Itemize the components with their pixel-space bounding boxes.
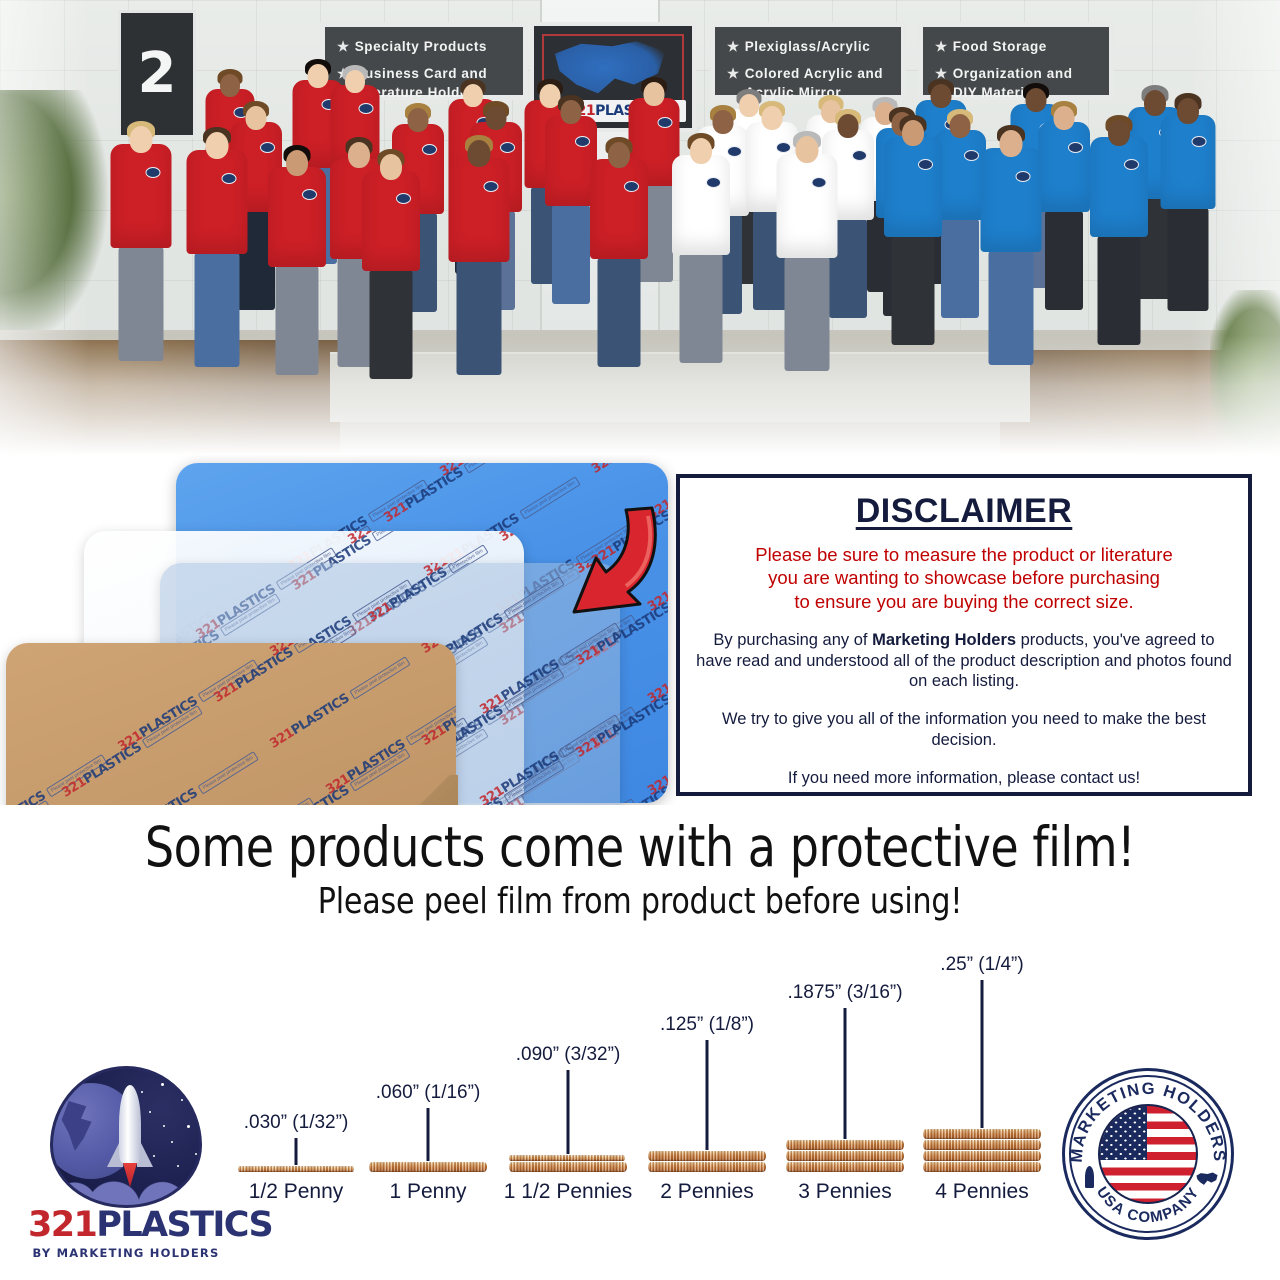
employee [884,118,942,349]
shirt [1090,137,1148,237]
face [999,130,1022,157]
penny-stack [509,1154,627,1172]
face [205,132,228,159]
face [286,150,308,176]
rocket-globe-emblem [50,1066,202,1208]
penny-coin [648,1162,766,1172]
legs [118,247,163,361]
employee [590,140,648,371]
thickness-label: .125” (1/8”) [660,1014,754,1036]
shirt-logo-icon [1124,159,1139,170]
palm-plant-left [0,90,110,350]
shirt [362,171,420,271]
legs [552,205,590,304]
leader-line [706,1040,709,1150]
star-icon [181,1099,183,1101]
penny-count-label: 3 Pennies [798,1180,891,1204]
logo-321-plastics: 321PLASTICS BY MARKETING HOLDERS [28,1066,224,1256]
legs [941,219,979,318]
penny-coin [786,1162,904,1172]
face [643,82,664,106]
face [838,114,859,138]
legs [1045,211,1083,310]
thickness-label: .030” (1/32”) [244,1112,349,1134]
penny-coin [923,1140,1041,1150]
face [1054,106,1075,130]
penny-coin [786,1151,904,1161]
headline-secondary: Please peel film from product before usi… [45,882,1235,922]
team-photo: 2 ★Specialty Products ★Business Card and… [0,0,1280,455]
shirt [980,148,1041,252]
shirt-logo-icon [221,173,236,184]
star-icon [171,1141,173,1143]
employee [448,138,509,379]
thickness-label: .060” (1/16”) [376,1082,481,1104]
star-icon: ★ [935,39,948,54]
thickness-label: .25” (1/4”) [940,954,1023,976]
legs [456,261,501,375]
shirt-logo-icon [1015,171,1030,182]
shirt-logo-icon [964,150,979,161]
employee [1160,96,1215,315]
penny-count-label: 1/2 Penny [249,1180,344,1204]
headline-block: Some products come with a protective fil… [0,818,1280,922]
legs [1167,208,1208,311]
employee [362,152,420,383]
shirt-logo-icon [811,177,826,188]
penny-coin [923,1129,1041,1139]
shirt-logo-icon [1068,142,1083,153]
face [307,64,328,88]
penny-count-label: 4 Pennies [935,1180,1028,1204]
face [902,120,924,146]
employee [776,134,837,375]
penny-coin [923,1151,1041,1161]
employee [268,148,326,379]
disclaimer-title: DISCLAIMER [696,492,1232,531]
kraft-paper-sheet: 321PLASTICSPlease peel protective film32… [6,643,456,805]
logo-321-tagline: BY MARKETING HOLDERS [28,1246,224,1260]
logo-marketing-holders-seal: MARKETING HOLDERS USA COMPANY [1062,1068,1234,1240]
shirt [672,155,730,255]
penny-count-label: 2 Pennies [660,1180,753,1204]
penny-count-label: 1 Penny [389,1180,466,1204]
shirt [268,167,326,267]
star-icon [161,1083,164,1086]
leader-line [567,1070,570,1154]
face [345,70,365,93]
face [930,84,951,108]
penny-coin [509,1162,627,1172]
face [950,114,971,138]
shirt [776,154,837,258]
shirt [448,158,509,262]
face [561,100,582,124]
shirt-logo-icon [358,103,373,114]
disclaimer-paragraph-2: By purchasing any of Marketing Holders p… [696,630,1232,692]
disclaimer-red-text: Please be sure to measure the product or… [696,543,1232,613]
seal-arc-text: MARKETING HOLDERS USA COMPANY [1062,1068,1234,1240]
building-number-sign: 2 [118,10,196,138]
face [246,106,267,130]
shirt [884,137,942,237]
employee [1090,118,1148,349]
shirt [186,150,247,254]
continent-shape [59,1101,103,1153]
face [129,126,152,153]
leader-line [844,1008,847,1139]
legs [194,253,239,367]
star-icon [149,1111,151,1113]
star-icon [153,1155,155,1157]
legs [1098,236,1141,345]
peel-arrow-icon [556,500,666,620]
penny-stack [369,1161,487,1172]
penny-coin [238,1166,354,1172]
shirt-logo-icon [575,136,590,147]
face [608,142,630,168]
face [795,136,818,163]
employee [1038,104,1090,314]
leader-line [427,1108,430,1161]
penny-coin [509,1155,625,1161]
legs [892,236,935,345]
logo-321-wordmark: 321PLASTICS [28,1208,224,1243]
penny-count-label: 1 1/2 Pennies [504,1180,632,1204]
star-icon [177,1165,179,1167]
shirt-logo-icon [658,117,673,128]
face [380,154,402,180]
shirt-logo-icon [852,150,867,161]
star-icon [199,1113,201,1115]
face [486,106,507,130]
penny-stack [786,1139,904,1172]
leader-line [981,980,984,1128]
star-icon [141,1091,143,1093]
penny-coin [923,1162,1041,1172]
shirt [110,144,171,248]
employee [110,124,171,365]
shrub-right [1210,290,1280,455]
thickness-label: .1875” (3/16”) [787,982,902,1004]
penny-stack [923,1128,1041,1172]
shirt-logo-icon [706,177,721,188]
disclaimer-paragraph-3: We try to give you all of the informatio… [696,709,1232,751]
employee [186,130,247,371]
shirt [590,159,648,259]
shirt-logo-icon [918,159,933,170]
face [220,74,240,97]
star-icon [163,1125,165,1127]
shirt-logo-icon [145,167,160,178]
svg-text:MARKETING HOLDERS: MARKETING HOLDERS [1068,1080,1229,1163]
penny-stack [648,1150,766,1172]
thickness-label: .090” (3/32”) [516,1044,621,1066]
star-icon [189,1085,191,1087]
legs [598,258,641,367]
penny-coin [369,1162,487,1172]
face [408,108,429,132]
penny-coin [786,1140,904,1150]
face [690,138,712,164]
star-icon: ★ [727,66,740,81]
shirt-logo-icon [302,189,317,200]
legs [680,254,723,363]
star-icon: ★ [337,39,350,54]
disclaimer-box: DISCLAIMER Please be sure to measure the… [676,474,1252,796]
star-icon: ★ [727,39,740,54]
face [1108,120,1130,146]
star-icon [187,1125,190,1128]
svg-text:USA COMPANY: USA COMPANY [1093,1184,1203,1226]
legs [784,257,829,371]
face [762,106,783,130]
peeling-corner [338,775,458,805]
shirt-logo-icon [396,193,411,204]
sign-plexiglass-acrylic: ★Plexiglass/Acrylic ★Colored Acrylic and… [710,22,906,100]
shirt [1038,122,1090,212]
employee [672,136,730,367]
shirt-logo-icon [624,181,639,192]
shirt [1160,115,1215,209]
face [713,110,734,134]
shirt-logo-icon [483,181,498,192]
cloud-band [53,1167,202,1205]
disclaimer-paragraph-4: If you need more information, please con… [696,768,1232,789]
shirt-logo-icon [422,144,437,155]
face [1177,98,1199,124]
headline-primary: Some products come with a protective fil… [45,818,1235,876]
infographic-page: 2 ★Specialty Products ★Business Card and… [0,0,1280,1280]
leader-line [295,1138,298,1165]
employee [980,128,1041,369]
rocket-icon [119,1085,141,1163]
legs [276,266,319,375]
shirt-logo-icon [1192,136,1207,147]
legs [370,270,413,379]
legs [988,251,1033,365]
penny-stack [238,1165,354,1172]
star-icon [195,1153,197,1155]
face [467,140,490,167]
penny-coin [648,1151,766,1161]
